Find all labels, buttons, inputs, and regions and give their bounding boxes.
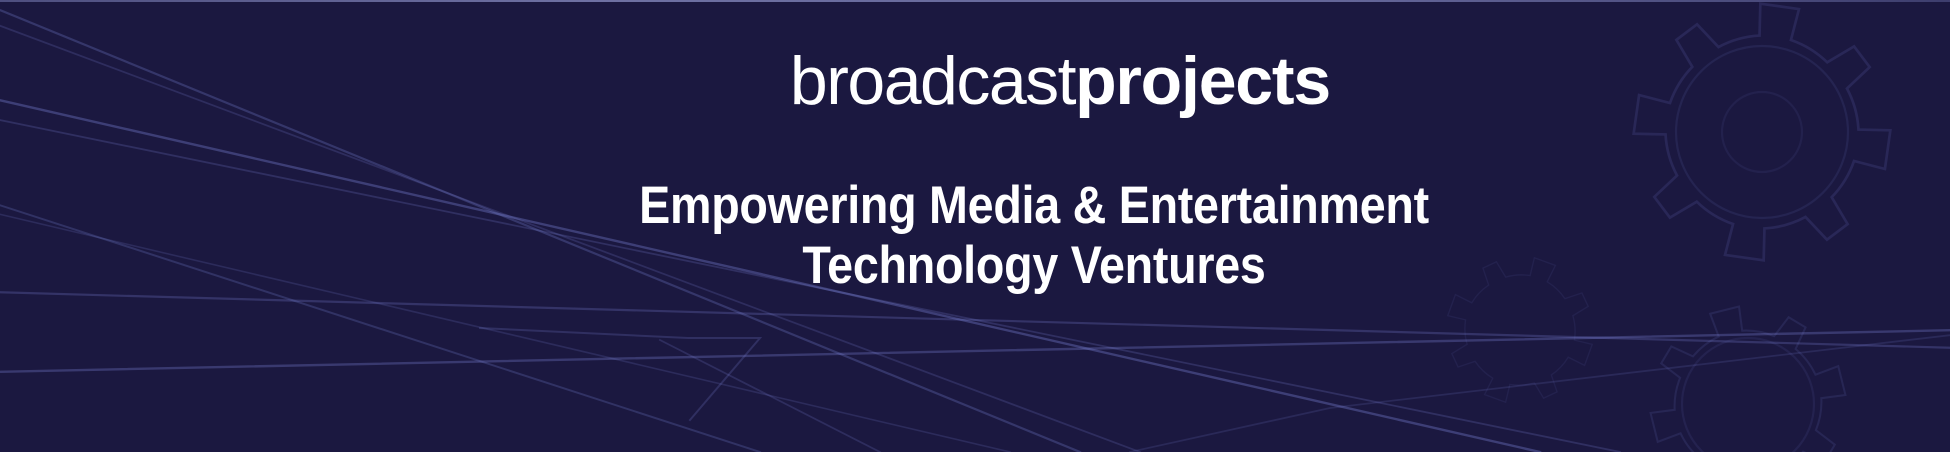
brand-logo-word-bold: projects [1075,43,1330,119]
tagline-line-2: Technology Ventures [124,236,1944,296]
brand-logo-word-light: broadcast [790,43,1075,119]
brand-logo[interactable]: broadcastprojects [0,47,1330,115]
banner-tagline: Empowering Media & Entertainment Technol… [124,176,1944,297]
site-header-banner: broadcastprojects Empowering Media & Ent… [0,0,1950,452]
banner-content: broadcastprojects Empowering Media & Ent… [0,0,1950,452]
tagline-line-1: Empowering Media & Entertainment [124,176,1944,236]
